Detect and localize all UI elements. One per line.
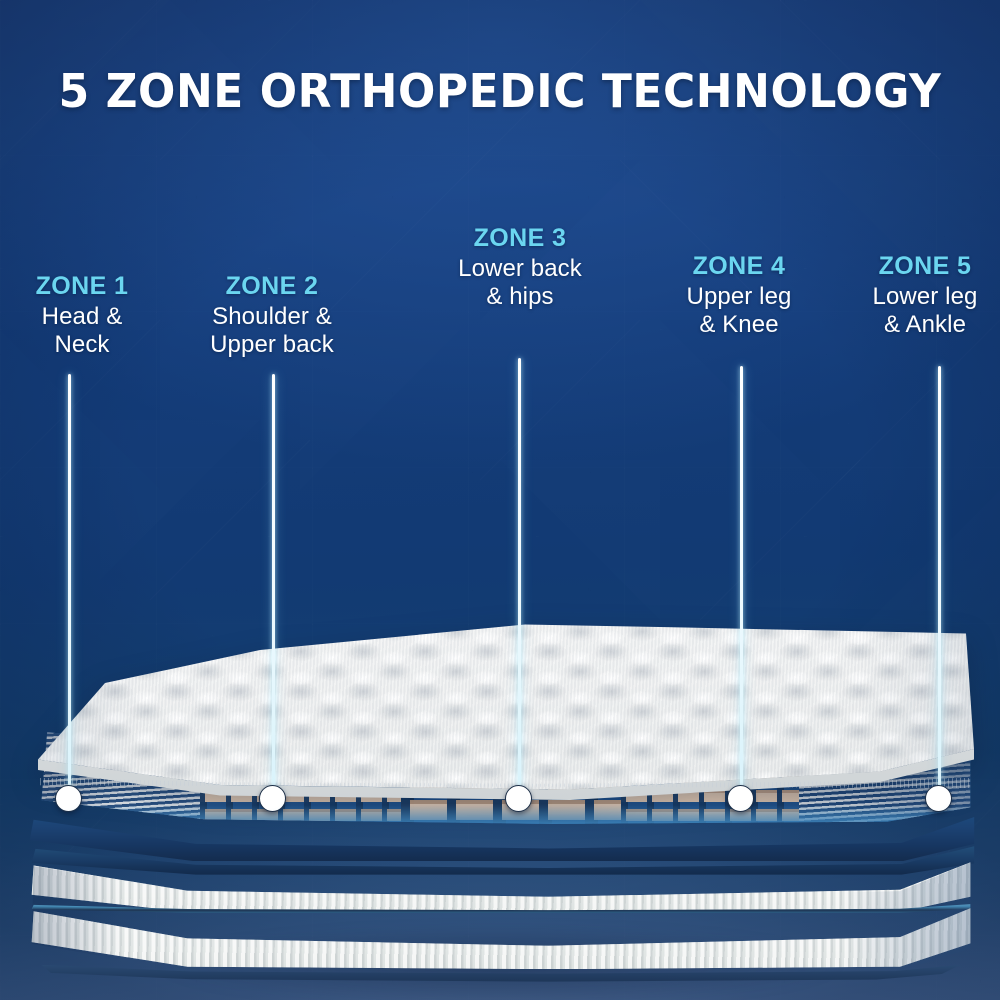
page-title: 5 ZONE ORTHOPEDIC TECHNOLOGY <box>23 68 978 114</box>
zone-label-3: ZONE 3 Lower back & hips <box>435 224 605 311</box>
zone-marker-dot-2[interactable] <box>259 785 286 812</box>
quilt-surface <box>0 560 1000 860</box>
zone-3-title: ZONE 3 <box>435 224 605 253</box>
zone-label-1: ZONE 1 Head & Neck <box>16 272 148 359</box>
zone-marker-dot-4[interactable] <box>727 785 754 812</box>
quilted-pillow-top <box>0 560 1000 860</box>
leader-line-zone-1 <box>68 374 71 802</box>
leader-line-zone-2 <box>272 374 275 802</box>
zone-1-description: Head & Neck <box>16 303 148 359</box>
leader-line-zone-3 <box>518 358 521 802</box>
infographic-canvas: 5 ZONE ORTHOPEDIC TECHNOLOGY ZONE 1 Head… <box>0 0 1000 1000</box>
quilt-shading <box>0 560 1000 860</box>
zone-marker-dot-3[interactable] <box>505 785 532 812</box>
zone-3-description: Lower back & hips <box>435 255 605 311</box>
zone-marker-dot-1[interactable] <box>55 785 82 812</box>
leader-line-zone-4 <box>740 366 743 802</box>
zone-5-description: Lower leg & Ankle <box>850 283 1000 339</box>
zone-label-5: ZONE 5 Lower leg & Ankle <box>850 252 1000 339</box>
zone-1-title: ZONE 1 <box>16 272 148 301</box>
zone-4-description: Upper leg & Knee <box>663 283 815 339</box>
zone-5-title: ZONE 5 <box>850 252 1000 281</box>
zone-2-title: ZONE 2 <box>182 272 362 301</box>
zone-4-title: ZONE 4 <box>663 252 815 281</box>
mattress-illustration <box>0 560 1000 1000</box>
leader-line-zone-5 <box>938 366 941 802</box>
zone-2-description: Shoulder & Upper back <box>182 303 362 359</box>
zone-label-2: ZONE 2 Shoulder & Upper back <box>182 272 362 359</box>
zone-label-4: ZONE 4 Upper leg & Knee <box>663 252 815 339</box>
zone-marker-dot-5[interactable] <box>925 785 952 812</box>
